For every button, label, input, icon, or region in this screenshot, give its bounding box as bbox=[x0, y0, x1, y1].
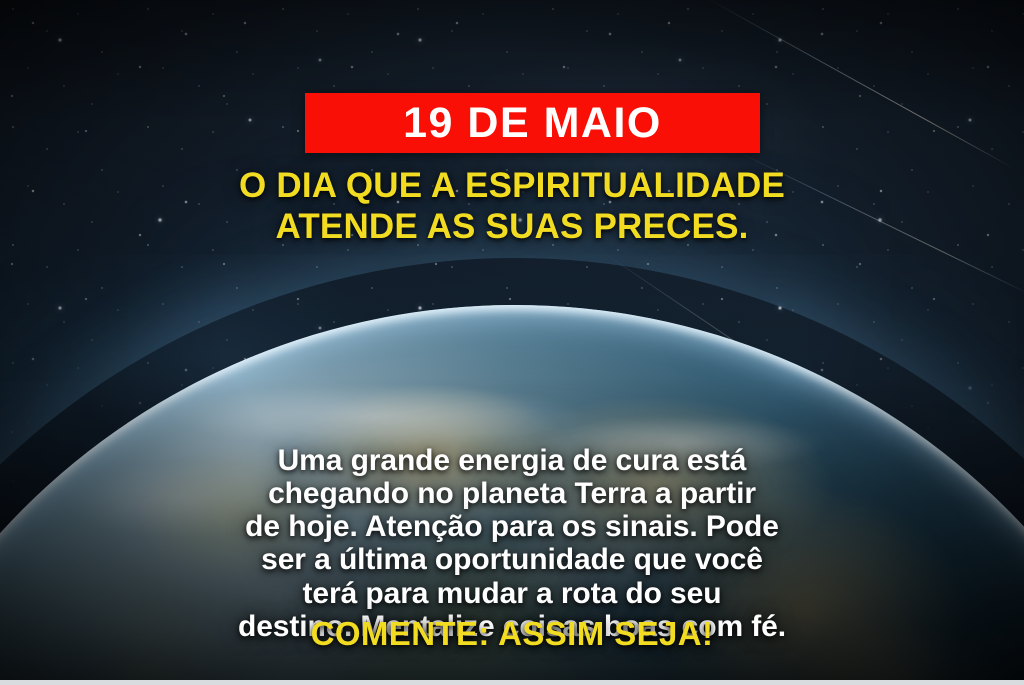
date-banner-label: 19 DE MAIO bbox=[403, 102, 662, 145]
headline-line-1: O DIA QUE A ESPIRITUALIDADE bbox=[0, 166, 1024, 207]
body-line-5: terá para mudar a rota do seu bbox=[0, 577, 1024, 610]
headline-line-2: ATENDE AS SUAS PRECES. bbox=[0, 207, 1024, 248]
poster-content: 19 DE MAIO O DIA QUE A ESPIRITUALIDADE A… bbox=[0, 0, 1024, 685]
body-line-3: de hoje. Atenção para os sinais. Pode bbox=[0, 510, 1024, 543]
date-banner: 19 DE MAIO bbox=[305, 93, 760, 153]
call-to-action-text: COMENTE: ASSIM SEJA! bbox=[0, 615, 1024, 653]
body-line-1: Uma grande energia de cura está bbox=[0, 444, 1024, 477]
poster-canvas: 19 DE MAIO O DIA QUE A ESPIRITUALIDADE A… bbox=[0, 0, 1024, 685]
bottom-border-strip bbox=[0, 680, 1024, 685]
body-paragraph: Uma grande energia de cura está chegando… bbox=[0, 444, 1024, 643]
headline: O DIA QUE A ESPIRITUALIDADE ATENDE AS SU… bbox=[0, 166, 1024, 248]
body-line-2: chegando no planeta Terra a partir bbox=[0, 477, 1024, 510]
body-line-4: ser a última oportunidade que você bbox=[0, 543, 1024, 576]
